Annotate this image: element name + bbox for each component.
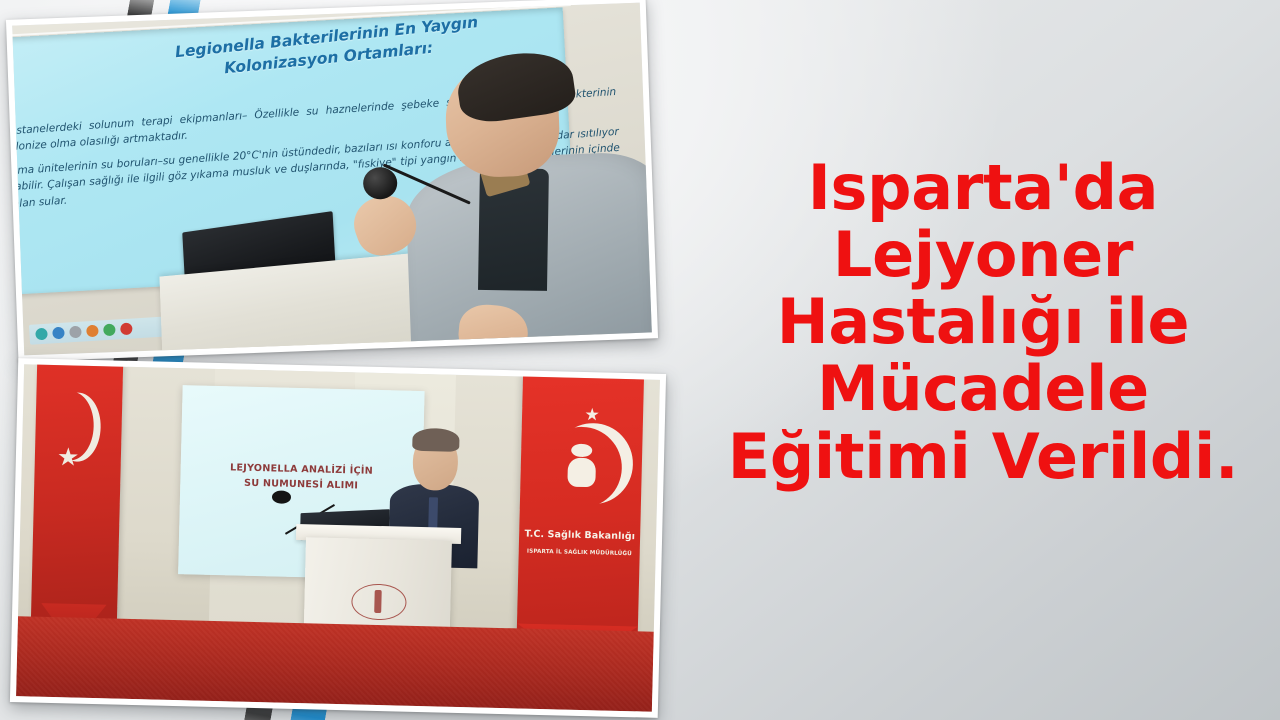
ministry-emblem-icon [351, 583, 407, 621]
app-icon-green [103, 323, 116, 336]
app-icon-teal [35, 328, 48, 341]
banner-line-1: T.C. Sağlık Bakanlığı [522, 528, 638, 542]
banner-line-2: ISPARTA İL SAĞLIK MÜDÜRLÜĞÜ [521, 549, 637, 558]
photo-lecture-speaker: Legionella Bakterilerinin En Yaygın Kolo… [6, 0, 658, 362]
turkish-flag: ★ [30, 364, 122, 629]
app-icon-gray [69, 325, 82, 338]
ministry-banner: ★ T.C. Sağlık Bakanlığı ISPARTA İL SAĞLI… [517, 373, 644, 648]
page-title: Isparta'da Lejyoner Hastalığı ile Mücade… [690, 154, 1276, 490]
photo-top-content: Legionella Bakterilerinin En Yaygın Kolo… [12, 3, 652, 356]
ministry-logo-icon: ★ [537, 412, 626, 518]
speaker2-tie [428, 498, 438, 530]
red-carpet [16, 617, 654, 712]
announcement-graphic: Legionella Bakterilerinin En Yaygın Kolo… [0, 0, 1280, 720]
photo-conference-room: ★ LEJYONELLA ANALİZİ İÇİN SU NUMUNESİ AL… [10, 358, 666, 718]
speaker2-hair [412, 428, 459, 452]
microphone2-icon [272, 490, 291, 504]
app-icon-orange [86, 324, 99, 337]
logo-figure-body [567, 458, 596, 488]
app-icon-red [120, 322, 133, 335]
photo-bottom-content: ★ LEJYONELLA ANALİZİ İÇİN SU NUMUNESİ AL… [16, 364, 660, 711]
app-icon-blue [52, 326, 65, 339]
star-icon: ★ [57, 444, 75, 474]
speaker-person-top [391, 58, 652, 355]
projection-slide-title: LEJYONELLA ANALİZİ İÇİN SU NUMUNESİ ALIM… [195, 461, 408, 496]
logo-star-icon: ★ [584, 407, 600, 424]
